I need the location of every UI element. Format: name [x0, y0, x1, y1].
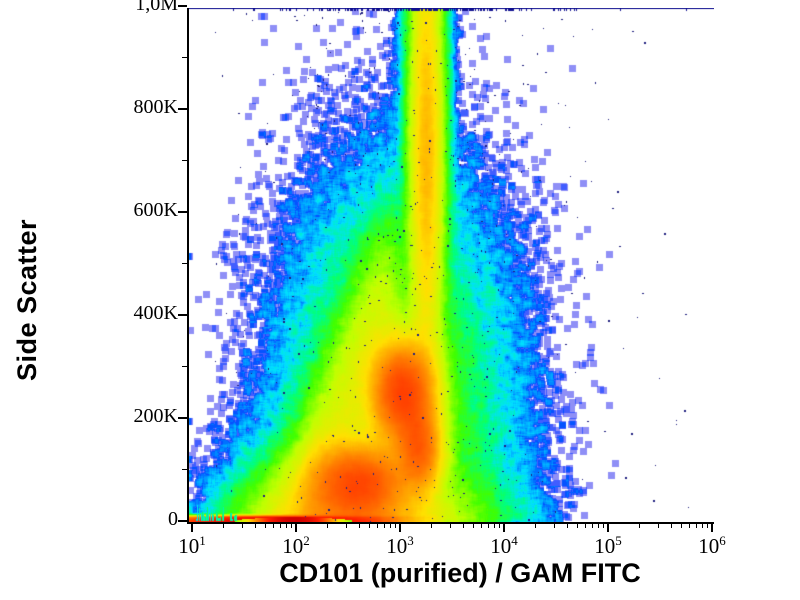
x-axis-title: CD101 (purified) / GAM FITC: [150, 558, 770, 589]
flow-cytometry-figure: Side Scatter 0200K400K600K800K1,0M 10110…: [0, 0, 800, 600]
x-tick-label-4: 105: [594, 534, 622, 559]
x-tick-label-5: 106: [698, 534, 726, 559]
x-tick-label-2: 103: [386, 534, 414, 559]
x-tick-label-3: 104: [490, 534, 518, 559]
x-tick-label-1: 102: [282, 534, 310, 559]
x-axis-tick-labels: 101102103104105106: [0, 0, 800, 600]
x-tick-label-0: 101: [178, 534, 206, 559]
